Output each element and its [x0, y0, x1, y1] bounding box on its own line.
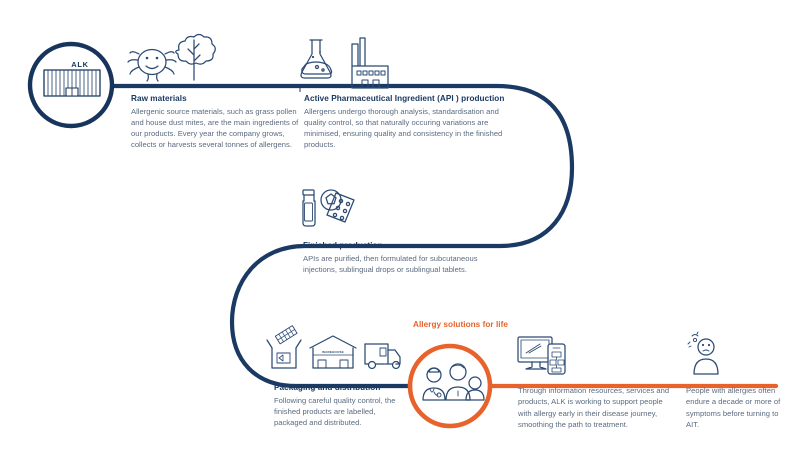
outcome-title: Allergy solutions for life: [413, 319, 563, 331]
step-title: Packaging and distribution: [274, 382, 404, 394]
step-packaging-distribution: Packaging and distribution Following car…: [274, 382, 404, 428]
outcome-body: Through information resources, services …: [518, 385, 678, 430]
flask-icon: [301, 40, 332, 78]
allergy-solutions-circle: [410, 346, 490, 426]
alk-logo-label: ALK: [44, 60, 116, 69]
blister-pack-icon: [327, 193, 354, 222]
step-title: Raw materials: [131, 93, 299, 105]
alk-building-logo-icon: [44, 70, 100, 96]
step-body: APIs are purified, then formulated for s…: [303, 253, 493, 276]
doctor-and-patients-icon: [423, 364, 484, 400]
tree-icon: [176, 35, 216, 81]
warehouse-label: WAREHOUSE: [313, 350, 353, 354]
desktop-monitor-icon: [518, 337, 552, 369]
step-raw-materials: Raw materials Allergenic source material…: [131, 93, 299, 151]
delivery-truck-icon: [365, 344, 400, 369]
open-box-icon: [267, 326, 301, 368]
infographic-canvas: ALK WAREHOUSE Raw materials Allergenic s…: [0, 0, 800, 456]
mobile-phone-icon: [548, 344, 565, 374]
outcome-information-resources: Through information resources, services …: [518, 385, 678, 430]
step-finished-production: Finished production APIs are purified, t…: [303, 240, 493, 275]
tablet-icon: [321, 190, 341, 210]
outcome-allergy-solutions: Allergy solutions for life: [413, 319, 563, 332]
outcome-people-with-allergies: People with allergies often endure a dec…: [686, 385, 791, 430]
factory-icon: [352, 38, 388, 88]
vial-icon: [303, 190, 315, 226]
step-body: Allergens undergo thorough analysis, sta…: [304, 106, 514, 151]
alk-logo-circle: [30, 44, 112, 126]
step-title: Finished production: [303, 240, 493, 252]
outcome-body: People with allergies often endure a dec…: [686, 385, 791, 430]
step-body: Following careful quality control, the f…: [274, 395, 404, 429]
step-title: Active Pharmaceutical Ingredient (API ) …: [304, 93, 514, 105]
step-api-production: Active Pharmaceutical Ingredient (API ) …: [304, 93, 514, 151]
step-body: Allergenic source materials, such as gra…: [131, 106, 299, 151]
dust-mite-icon: [128, 50, 176, 82]
person-with-symptoms-icon: [688, 332, 718, 374]
